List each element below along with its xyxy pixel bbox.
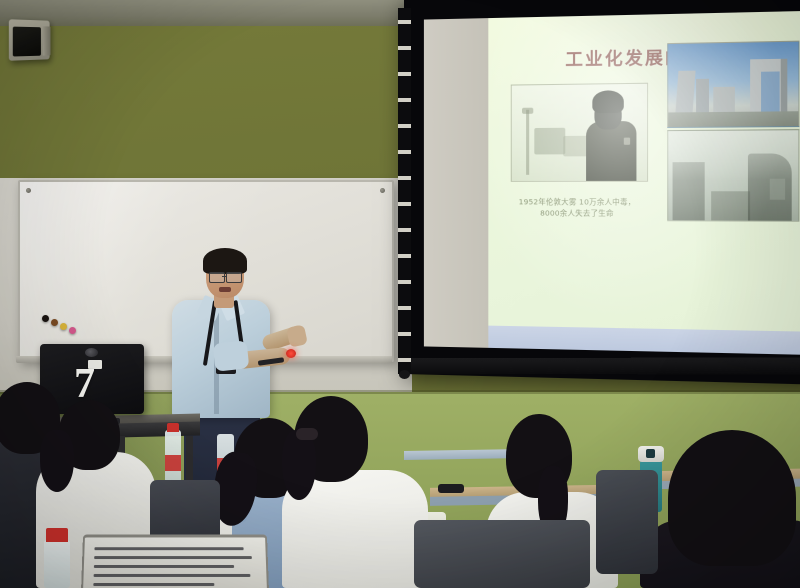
building <box>675 71 695 117</box>
policeman-helmet <box>592 90 623 113</box>
building <box>696 79 709 117</box>
glasses-lens-left <box>209 272 225 283</box>
presenter-mouth <box>219 287 231 292</box>
glasses-bridge <box>222 276 227 277</box>
slide-caption-line1: 1952年伦敦大雾 10万余人中毒， <box>494 196 660 208</box>
whiteboard-screw <box>26 188 31 193</box>
magnet-black <box>42 315 49 322</box>
hair-tie <box>296 428 318 440</box>
magnet-pink <box>69 327 76 334</box>
bottle-cap-latch <box>646 449 655 458</box>
slide-image-city-smog <box>667 129 799 222</box>
student-ponytail <box>40 430 74 492</box>
water-bottle-clear <box>44 540 70 588</box>
screen-tension-strip <box>398 8 411 374</box>
slide-footer-bar <box>488 326 800 355</box>
laser-dot-icon <box>286 349 296 358</box>
bottle-cap-red <box>46 528 68 542</box>
chair-back <box>596 470 658 574</box>
car-silhouette <box>563 136 588 157</box>
policeman-body <box>586 121 636 181</box>
student-ponytail <box>282 430 316 500</box>
monitor-logo <box>85 348 98 357</box>
slide-image-city-clear <box>667 41 799 128</box>
magnet-brown <box>51 319 58 326</box>
policeman-badge <box>624 138 630 145</box>
lamp-head <box>522 108 533 114</box>
speaker-grille <box>13 27 41 57</box>
monitor-seat-number: 7 <box>74 366 95 402</box>
ground <box>668 111 798 127</box>
screen-surface: 工业化发展的阵痛 <box>424 11 800 355</box>
student-head <box>668 430 796 566</box>
classroom-photo: 工业化发展的阵痛 <box>0 0 800 588</box>
speaker-bracket <box>43 26 51 55</box>
bottle-label-red <box>165 455 181 471</box>
presenter-hair <box>203 248 247 274</box>
slide-image-london-smog <box>511 83 648 182</box>
smog-overlay <box>668 130 798 221</box>
desk-leg <box>186 436 193 480</box>
presentation-slide: 工业化发展的阵痛 <box>488 11 800 355</box>
whiteboard-screw <box>380 188 385 193</box>
presenter-sleeve-left <box>213 340 250 371</box>
slide-caption-line2: 8000余人失去了生命 <box>494 207 660 219</box>
screen-bottom-bar <box>404 358 800 375</box>
screen-unlit-margin <box>424 18 488 348</box>
magnet-yellow <box>60 323 67 330</box>
slide-caption: 1952年伦敦大雾 10万余人中毒， 8000余人失去了生命 <box>494 196 660 219</box>
lamp-post <box>526 110 529 175</box>
projection-screen: 工业化发展的阵痛 <box>404 0 800 385</box>
chair-back <box>414 520 590 588</box>
bottle-cap-red <box>167 423 179 432</box>
screen-tension-knob <box>399 370 410 379</box>
arch-opening <box>761 71 780 113</box>
desk-item-device <box>438 484 464 493</box>
bus-silhouette <box>534 128 565 155</box>
student-laptop <box>81 535 269 588</box>
glasses-lens-right <box>226 272 242 283</box>
ceiling-speaker-icon <box>9 19 50 61</box>
